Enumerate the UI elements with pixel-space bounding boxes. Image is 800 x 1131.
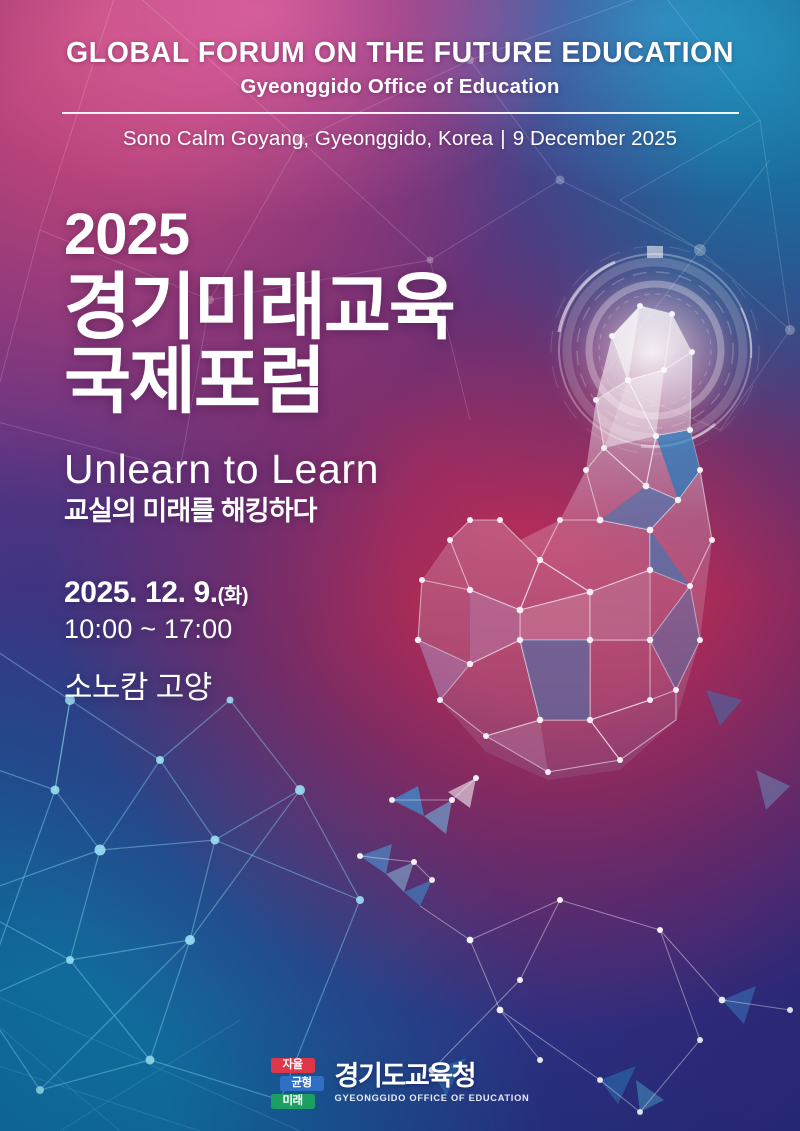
event-year: 2025: [64, 206, 454, 264]
badge-jayul: 자율: [271, 1058, 315, 1074]
header-venue-location: Sono Calm Goyang, Gyeonggido, Korea: [123, 127, 493, 150]
event-venue: 소노캄 고양: [64, 671, 454, 705]
header-venue-line: Sono Calm Goyang, Gyeonggido, Korea|9 De…: [0, 127, 800, 151]
header-subtitle: Gyeonggido Office of Education: [0, 75, 800, 99]
event-title-line-2: 국제포럼: [64, 345, 454, 419]
header-divider: [62, 112, 739, 114]
header-venue-date: 9 December 2025: [513, 127, 677, 150]
event-date: 2025. 12. 9.(화): [64, 576, 454, 609]
slogan-english: Unlearn to Learn: [64, 449, 454, 490]
poster-header: GLOBAL FORUM ON THE FUTURE EDUCATION Gye…: [0, 0, 800, 151]
poster-main-content: 2025 경기미래교육 국제포럼 Unlearn to Learn 교실의 미래…: [64, 206, 454, 705]
organization-name-english: GYEONGGIDO OFFICE OF EDUCATION: [335, 1094, 530, 1103]
event-date-value: 2025. 12. 9.: [64, 576, 218, 609]
slogan-korean: 교실의 미래를 해킹하다: [64, 497, 454, 527]
event-time: 10:00 ~ 17:00: [64, 615, 454, 645]
organization-logo-text: 경기도교육청 GYEONGGIDO OFFICE OF EDUCATION: [335, 1063, 530, 1103]
organization-name-korean: 경기도교육청: [335, 1063, 530, 1090]
footer-logo: 자율 균형 미래 경기도교육청 GYEONGGIDO OFFICE OF EDU…: [0, 1058, 800, 1110]
badge-gyunhyeong: 균형: [280, 1076, 324, 1092]
header-title: GLOBAL FORUM ON THE FUTURE EDUCATION: [0, 38, 800, 70]
header-venue-separator: |: [493, 127, 512, 151]
event-title-line-1: 경기미래교육: [64, 271, 454, 345]
event-details: 2025. 12. 9.(화) 10:00 ~ 17:00 소노캄 고양: [64, 576, 454, 705]
logo-badges: 자율 균형 미래: [271, 1058, 324, 1110]
event-day-of-week: (화): [218, 585, 249, 607]
event-title-korean: 경기미래교육 국제포럼: [64, 271, 454, 418]
badge-mirae: 미래: [271, 1094, 315, 1110]
poster-canvas: GLOBAL FORUM ON THE FUTURE EDUCATION Gye…: [0, 0, 800, 1131]
